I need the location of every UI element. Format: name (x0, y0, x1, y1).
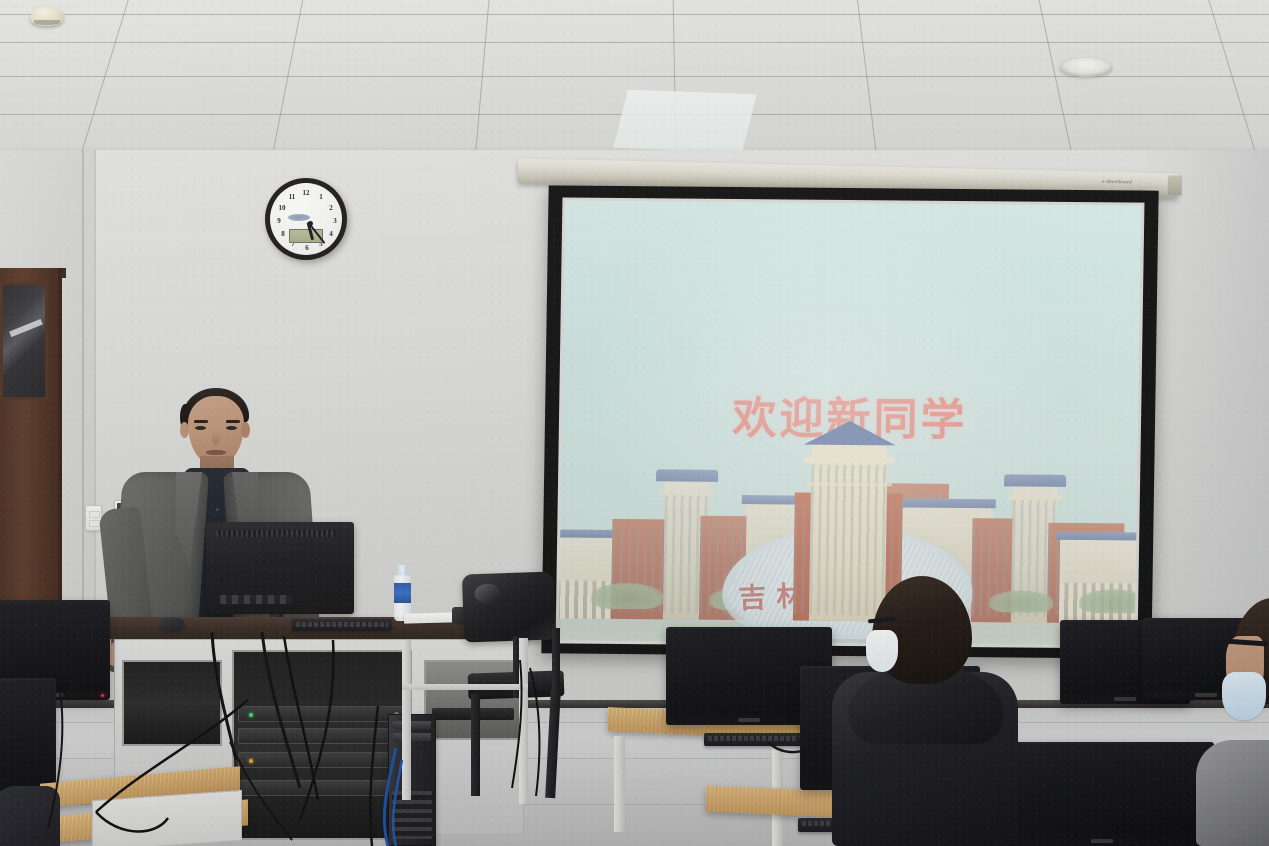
clock-numeral: 12 (301, 189, 311, 197)
student-face-mask (866, 630, 898, 672)
av-rack-unit[interactable] (238, 752, 406, 768)
av-rack-unit[interactable] (238, 780, 406, 796)
classroom-photo: 12 1 2 3 4 5 6 7 8 9 10 11 e-Sheetboard … (0, 0, 1269, 846)
student-face-mask (1222, 672, 1266, 720)
av-rack-unit[interactable] (238, 706, 406, 722)
papers-on-desk (404, 612, 454, 623)
clock-center-pin (308, 221, 313, 226)
clock-numeral: 3 (330, 217, 340, 225)
instructor-mouse[interactable] (160, 617, 184, 631)
chair-leg (552, 628, 560, 694)
chair-leg (471, 694, 480, 796)
wall-clock: 12 1 2 3 4 5 6 7 8 9 10 11 (265, 178, 347, 260)
roller-brand-label: e-Sheetboard (1102, 180, 1132, 186)
clock-face: 12 1 2 3 4 5 6 7 8 9 10 11 (270, 183, 342, 255)
student-jacket (1196, 740, 1269, 846)
av-rack-unit[interactable] (238, 728, 406, 744)
instructor-eye-left (195, 426, 206, 430)
door-glass-window (0, 282, 48, 400)
av-equipment-rack (122, 660, 222, 746)
roller-endcap (1168, 175, 1182, 195)
building-central-roof (804, 421, 896, 446)
table-crossbar (402, 684, 528, 690)
clock-numeral: 8 (278, 230, 288, 238)
student-monitor (990, 742, 1214, 846)
clock-numeral: 2 (326, 204, 336, 212)
slide-shrub (591, 583, 663, 610)
building-central-tower (809, 439, 888, 622)
desk-leg (614, 736, 625, 832)
ceiling (0, 0, 1269, 172)
projection-screen: 欢迎新同学 (541, 185, 1158, 658)
table-leg (519, 638, 528, 804)
clock-numeral: 11 (287, 193, 297, 201)
slide-shrub (1079, 589, 1141, 614)
smoke-detector-icon (30, 6, 64, 26)
screen-inner-edge: 欢迎新同学 (555, 197, 1144, 648)
student-keyboard[interactable] (704, 733, 802, 746)
clock-numeral: 4 (326, 230, 336, 238)
slide-campus-illustration: 吉林大 (559, 410, 1139, 645)
instructor-eye-right (226, 426, 237, 430)
instructor-keyboard[interactable] (292, 619, 392, 631)
slide-shrub (989, 590, 1053, 613)
office-chair-back[interactable] (462, 571, 556, 642)
clock-numeral: 6 (302, 244, 312, 252)
screen-surface: 欢迎新同学 (559, 201, 1142, 646)
ceiling-panel-light (613, 90, 756, 153)
instructor-ear-right (241, 422, 250, 438)
desk-modesty-panel (92, 790, 242, 846)
table-leg (402, 640, 411, 800)
pc-tower (388, 714, 436, 846)
student-jacket (0, 786, 60, 846)
clock-numeral: 10 (277, 204, 287, 212)
clock-numeral: 9 (274, 217, 284, 225)
av-equipment-rack (232, 650, 412, 840)
ceiling-light (1060, 58, 1112, 77)
instructor-mouth (206, 450, 226, 455)
instructor-ear-left (180, 422, 189, 438)
instructor-monitor-rear (206, 522, 354, 614)
clock-brand-logo (288, 214, 310, 221)
clock-numeral: 1 (316, 193, 326, 201)
instructor-nose (212, 433, 220, 445)
